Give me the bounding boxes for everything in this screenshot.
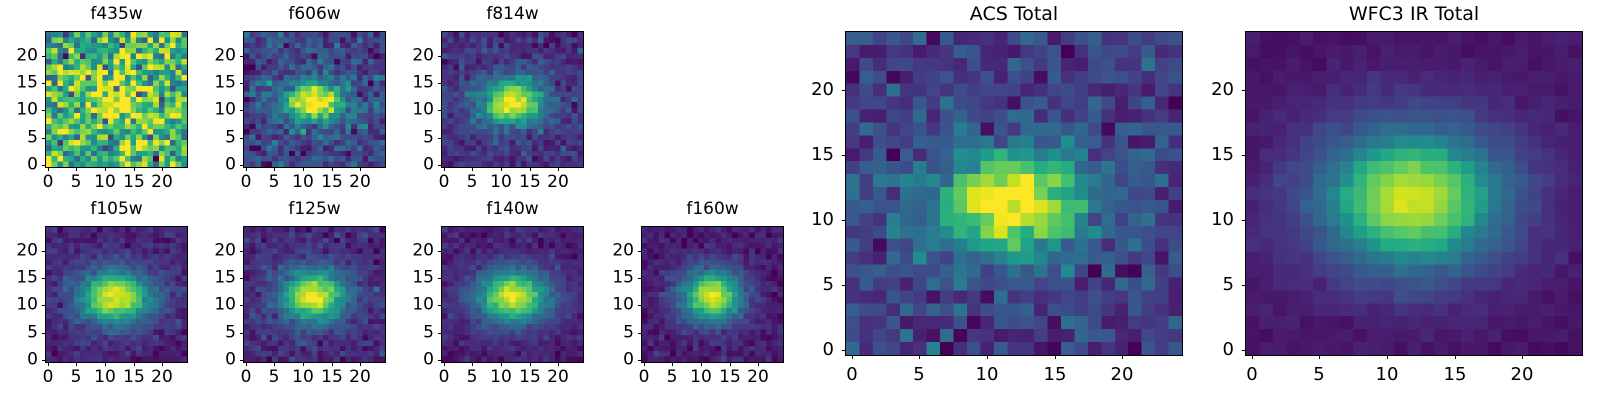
- yticklabel-wfc3-ir-total-0: 0: [1194, 341, 1234, 359]
- xticklabel-wfc3-ir-total-15: 15: [1444, 366, 1467, 384]
- figure-canvas: f435w0510152005101520f606w05101520051015…: [0, 0, 1600, 400]
- xtick-wfc3-ir-total-0: [1252, 356, 1253, 359]
- ytick-wfc3-ir-total-15: [1242, 155, 1245, 156]
- xticklabel-wfc3-ir-total-10: 10: [1376, 366, 1399, 384]
- xticklabel-wfc3-ir-total-5: 5: [1313, 366, 1324, 384]
- yticklabel-wfc3-ir-total-10: 10: [1194, 211, 1234, 229]
- panel-wfc3-ir-total: WFC3 IR Total0510152005101520: [0, 0, 1600, 400]
- xtick-wfc3-ir-total-10: [1387, 356, 1388, 359]
- yticklabel-wfc3-ir-total-5: 5: [1194, 276, 1234, 294]
- xtick-wfc3-ir-total-15: [1455, 356, 1456, 359]
- yticklabel-wfc3-ir-total-20: 20: [1194, 81, 1234, 99]
- ytick-wfc3-ir-total-0: [1242, 350, 1245, 351]
- xticklabel-wfc3-ir-total-20: 20: [1511, 366, 1534, 384]
- axes-wfc3-ir-total: [1245, 31, 1583, 356]
- yticklabel-wfc3-ir-total-15: 15: [1194, 146, 1234, 164]
- xticklabel-wfc3-ir-total-0: 0: [1246, 366, 1257, 384]
- ytick-wfc3-ir-total-20: [1242, 90, 1245, 91]
- xtick-wfc3-ir-total-20: [1522, 356, 1523, 359]
- ytick-wfc3-ir-total-10: [1242, 220, 1245, 221]
- panel-title-wfc3-ir-total: WFC3 IR Total: [1245, 5, 1583, 24]
- xtick-wfc3-ir-total-5: [1319, 356, 1320, 359]
- heatmap-wfc3-ir-total: [1246, 32, 1582, 355]
- ytick-wfc3-ir-total-5: [1242, 285, 1245, 286]
